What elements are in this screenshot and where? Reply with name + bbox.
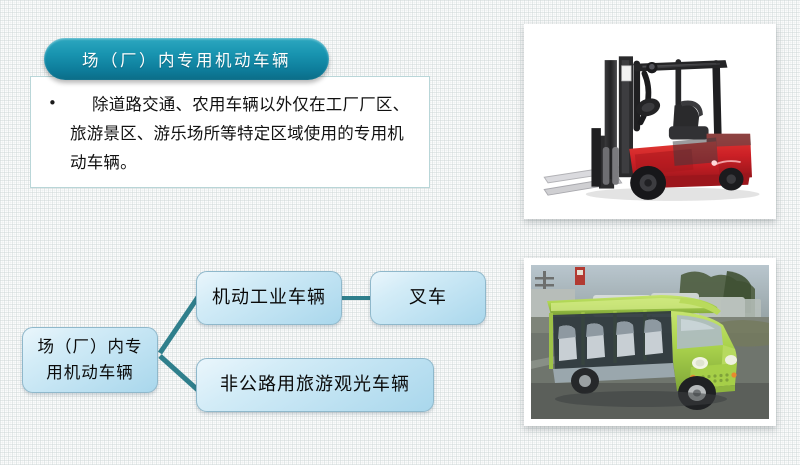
forklift-illustration [531,31,769,212]
flow-box-forklift-label: 叉车 [409,285,447,311]
definition-body-text: 除道路交通、农用车辆以外仅在工厂厂区、旅游景区、游乐场所等特定区域使用的专用机动… [70,90,419,177]
flow-box-forklift[interactable]: 叉车 [370,271,486,325]
flow-box-root[interactable]: 场（厂）内专 用机动车辆 [22,327,158,393]
definition-bullet-row: • 除道路交通、农用车辆以外仅在工厂厂区、旅游景区、游乐场所等特定区域使用的专用… [48,90,419,177]
sightseeing-shuttle-photo-image [531,265,769,419]
flow-box-offroad-label: 非公路用旅游观光车辆 [220,372,410,398]
connector-root-to-mhv [160,297,198,353]
sightseeing-shuttle-photo [524,258,776,426]
flow-box-mhv-label: 机动工业车辆 [212,285,326,311]
forklift-photo-image [531,31,769,212]
section-title-label: 场（厂）内专用机动车辆 [82,47,291,71]
sightseeing-shuttle-illustration [531,265,769,419]
section-title-pill: 场（厂）内专用机动车辆 [44,38,329,80]
flow-box-root-label: 场（厂）内专 用机动车辆 [38,334,143,386]
slide-canvas: • 除道路交通、农用车辆以外仅在工厂厂区、旅游景区、游乐场所等特定区域使用的专用… [0,0,800,465]
flow-box-offroad-sightseeing-vehicle[interactable]: 非公路用旅游观光车辆 [196,358,434,412]
bullet-marker-icon: • [48,90,70,116]
flow-box-motorized-industrial-vehicle[interactable]: 机动工业车辆 [196,271,342,325]
forklift-photo [524,24,776,219]
definition-card: • 除道路交通、农用车辆以外仅在工厂厂区、旅游景区、游乐场所等特定区域使用的专用… [30,76,430,188]
connector-root-to-offroad [160,356,200,392]
